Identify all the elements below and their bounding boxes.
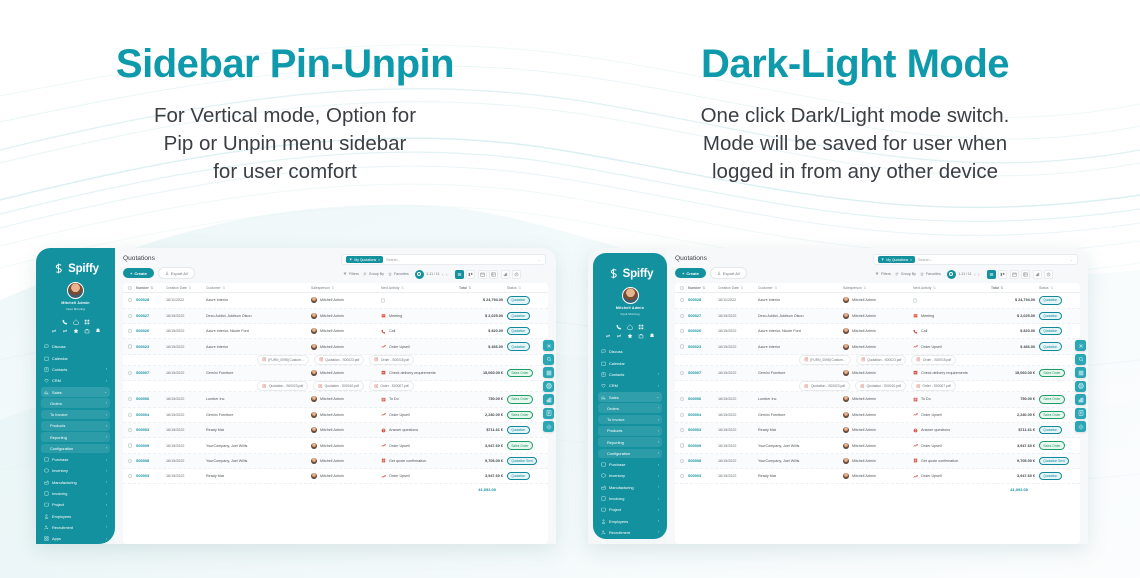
export-all-button[interactable]: Export All	[710, 267, 747, 279]
refresh-icon[interactable]	[415, 270, 424, 279]
attachment-label: Quotation - S00023.pdf	[269, 384, 303, 388]
cell-creation-date: 16/15/2022	[718, 329, 758, 333]
meeting-icon	[381, 313, 386, 318]
quick-icons	[36, 316, 115, 342]
user-name: Mitchell Admin	[616, 306, 644, 310]
attachment-chip[interactable]: Quotation - S00023.pdf	[856, 355, 907, 365]
sort-icon[interactable]: ⇅	[1050, 286, 1053, 290]
row-checkbox[interactable]	[680, 329, 688, 333]
table-row[interactable]: S0002716/15/2022Deco Addict, Addison Ols…	[123, 309, 548, 324]
heading-block-left: Sidebar Pin-Unpin For Vertical mode, Opt…	[0, 0, 570, 232]
sidebar-item-configuration[interactable]: Configuration›	[598, 449, 662, 459]
row-checkbox[interactable]	[680, 474, 688, 478]
apps-grid-icon[interactable]	[1075, 367, 1086, 378]
cell-next-activity: Order Upsell	[381, 474, 459, 479]
search-input[interactable]: Search...	[386, 258, 535, 262]
sidebar-item-products[interactable]: Products›	[41, 421, 110, 431]
sort-icon[interactable]: ⇅	[150, 286, 153, 290]
sidebar-item-manufacturing[interactable]: Manufacturing›	[41, 477, 110, 487]
sidebar-item-invoicing[interactable]: Invoicing›	[598, 494, 662, 504]
sort-icon[interactable]: ⇅	[863, 286, 866, 290]
column-header-total[interactable]: Total⇅	[991, 286, 1035, 290]
group-by-button[interactable]: Group By	[895, 272, 916, 276]
pagination[interactable]: 1-11 / 11 ‹ ›	[415, 270, 448, 279]
row-checkbox[interactable]	[680, 298, 688, 302]
chevron-right-icon[interactable]: ›	[658, 463, 659, 467]
cell-status: Sales Order	[1035, 395, 1075, 403]
settings-gear-icon[interactable]	[1075, 340, 1086, 351]
search-rail-icon[interactable]	[1075, 354, 1086, 365]
column-header-creation-date[interactable]: Creation Date⇅	[166, 286, 206, 290]
table-row[interactable]: S0000616/15/2022Lumber IncMitchell Admin…	[675, 392, 1080, 407]
row-checkbox[interactable]	[680, 413, 688, 417]
column-header-creation-date[interactable]: Creation Date⇅	[718, 286, 758, 290]
bag-icon[interactable]	[84, 328, 90, 334]
export-all-button[interactable]: Export All	[158, 267, 195, 279]
grid-icon[interactable]	[638, 324, 644, 330]
sidebar-item-to-invoice[interactable]: To Invoice›	[598, 415, 662, 425]
row-checkbox[interactable]	[128, 413, 136, 417]
cell-status: Quotation	[1035, 312, 1075, 320]
column-header-status[interactable]: Status⇅	[503, 286, 543, 290]
cell-number[interactable]: S00023	[136, 345, 166, 349]
chevron-right-icon[interactable]: ›	[106, 503, 107, 507]
chevron-right-icon[interactable]: ›	[658, 497, 659, 501]
chevron-right-icon[interactable]: ›	[106, 458, 107, 462]
note-icon[interactable]	[1075, 408, 1086, 419]
table-row[interactable]: S0000816/15/2022YourCompany, Joel Willis…	[123, 454, 548, 469]
graph-view-icon[interactable]	[1033, 270, 1042, 279]
chevron-right-icon[interactable]: ›	[658, 429, 659, 433]
status-badge: Sales Order	[1039, 395, 1065, 403]
chevron-right-icon[interactable]: ›	[106, 379, 107, 383]
chevron-down-icon[interactable]: ⌄	[656, 395, 659, 399]
table-row[interactable]: S0000916/15/2022YourCompany, Joel Willis…	[675, 438, 1080, 453]
table-row[interactable]: S0000316/15/2022Ready MatMitchell AdminO…	[123, 469, 548, 484]
sidebar-item-to-invoice[interactable]: To Invoice›	[41, 410, 110, 420]
attachment-chip[interactable]: Quotation - S00023.pdf	[314, 355, 365, 365]
sidebar-item-inventory[interactable]: Inventory›	[41, 466, 110, 476]
row-checkbox[interactable]	[680, 371, 688, 375]
user-block[interactable]: Mitchell Admin Input Morning	[593, 287, 667, 321]
create-button[interactable]: + Create	[123, 268, 154, 278]
chevron-right-icon[interactable]: ›	[658, 440, 659, 444]
chevron-right-icon[interactable]: ›	[106, 492, 107, 496]
prev-page-icon[interactable]: ‹	[442, 272, 443, 277]
calendar-view-icon[interactable]	[1010, 270, 1019, 279]
sort-icon[interactable]: ⇅	[222, 286, 225, 290]
attachment-chip[interactable]: Order - S00007.pdf	[911, 381, 956, 391]
sidebar-item-discuss[interactable]: Discuss	[598, 347, 662, 357]
table-body: S0002816/11/2022Azure InteriorMitchell A…	[675, 293, 1080, 484]
cell-salesperson: Mitchell Admin	[311, 473, 381, 479]
sidebar-item-discuss[interactable]: Discuss	[41, 342, 110, 352]
chevron-right-icon[interactable]: ›	[106, 435, 107, 439]
attachment-chip[interactable]: Order - S00015.pdf	[369, 355, 414, 365]
activity-label: Answer questions	[921, 428, 950, 432]
table-row[interactable]: S0002716/15/2022Deco Addict, Addison Ols…	[675, 309, 1080, 324]
sidebar-item-purchase[interactable]: Purchase›	[598, 460, 662, 470]
sidebar-item-label: Inventory	[609, 473, 655, 478]
chart-icon[interactable]	[1075, 394, 1086, 405]
attachment-chip[interactable]: Quotation - S00010.pdf	[855, 381, 906, 391]
sidebar-item-invoicing[interactable]: Invoicing›	[41, 489, 110, 499]
activity-label: Order Upsell	[921, 345, 942, 349]
chart-icon[interactable]	[543, 394, 554, 405]
pagination[interactable]: 1-11 / 11 ‹ ›	[947, 270, 980, 279]
sidebar-item-reporting[interactable]: Reporting›	[598, 437, 662, 447]
file-icon	[318, 384, 323, 389]
chat-icon	[601, 349, 606, 354]
file-icon	[374, 384, 379, 389]
call-icon[interactable]	[62, 319, 68, 325]
column-label: Creation Date	[718, 286, 739, 290]
sidebar-item-orders[interactable]: Orders›	[598, 403, 662, 413]
status-badge: Quotation	[507, 342, 530, 350]
chevron-right-icon[interactable]: ›	[106, 367, 107, 371]
activity-label: Check delivery requirements	[921, 371, 968, 375]
link-icon[interactable]	[605, 333, 611, 339]
link-icon[interactable]	[62, 328, 68, 334]
cell-total: $711.61 €	[459, 428, 503, 432]
attachment-chip[interactable]: [FURN_0096] Custom...	[799, 355, 851, 365]
chevron-right-icon[interactable]: ›	[106, 446, 107, 450]
sort-icon[interactable]: ⇅	[774, 286, 777, 290]
graph-view-icon[interactable]	[501, 270, 510, 279]
column-header-salesperson[interactable]: Salesperson⇅	[843, 286, 913, 290]
chevron-right-icon[interactable]: ›	[658, 530, 659, 534]
chevron-right-icon[interactable]: ›	[658, 406, 659, 410]
create-button[interactable]: + Create	[675, 268, 706, 278]
heading-block-right: Dark-Light Mode One click Dark/Light mod…	[570, 0, 1140, 232]
search-facet-label: My Quotations	[354, 258, 376, 262]
pivot-view-icon[interactable]	[1021, 270, 1030, 279]
table-row[interactable]: S0002816/11/2022Azure InteriorMitchell A…	[123, 293, 548, 308]
attachment-chip[interactable]: Quotation - S00010.pdf	[313, 381, 364, 391]
cell-customer: Azure Interior	[206, 298, 311, 302]
view-toggles	[455, 270, 522, 279]
activity-label: Call	[921, 329, 927, 333]
cell-number[interactable]: S00009	[688, 444, 718, 448]
table-row[interactable]: S0000316/15/2022Ready MatMitchell AdminA…	[675, 423, 1080, 438]
sidebar-item-inventory[interactable]: Inventory›	[598, 471, 662, 481]
star-icon	[920, 272, 924, 276]
cell-number[interactable]: S00006	[688, 397, 718, 401]
search-input[interactable]: Search...	[918, 258, 1067, 262]
link-icon[interactable]	[616, 333, 622, 339]
row-checkbox[interactable]	[128, 428, 136, 432]
chevron-right-icon[interactable]: ›	[658, 485, 659, 489]
cell-customer: Deco Addict, Addison Olson	[206, 314, 311, 318]
table-row[interactable]: S0000916/15/2022YourCompany, Joel Willis…	[123, 438, 548, 453]
column-header-total[interactable]: Total⇅	[459, 286, 503, 290]
cell-creation-date: 16/15/2022	[166, 428, 206, 432]
attachment-chip[interactable]: Quotation - S00023.pdf	[799, 381, 850, 391]
status-badge: Quotation	[1039, 426, 1062, 434]
sidebar-item-employees[interactable]: Employees›	[598, 516, 662, 526]
sort-icon[interactable]: ⇅	[740, 286, 743, 290]
table-row[interactable]: S0002316/15/2022Azure InteriorMitchell A…	[675, 339, 1080, 354]
sidebar-item-sales[interactable]: Sales⌄	[598, 392, 662, 402]
sort-icon[interactable]: ⇅	[518, 286, 521, 290]
note-icon[interactable]	[543, 408, 554, 419]
cell-number[interactable]: S00026	[136, 329, 166, 333]
sort-icon[interactable]: ⇅	[933, 286, 936, 290]
chevron-right-icon[interactable]: ›	[106, 469, 107, 473]
sort-icon[interactable]: ⇅	[702, 286, 705, 290]
cell-number[interactable]: S00004	[136, 413, 166, 417]
chevron-right-icon[interactable]: ›	[106, 537, 107, 541]
row-checkbox[interactable]	[680, 397, 688, 401]
cell-number[interactable]: S00004	[688, 413, 718, 417]
table-row[interactable]: S0000616/15/2022Lumber IncMitchell Admin…	[123, 392, 548, 407]
chevron-right-icon[interactable]: ›	[106, 424, 107, 428]
row-checkbox[interactable]	[680, 344, 688, 348]
column-header-customer[interactable]: Customer⇅	[206, 286, 311, 290]
sidebar-item-configuration[interactable]: Configuration›	[41, 444, 110, 454]
sidebar-item-calendar[interactable]: Calendar	[41, 353, 110, 363]
status-badge: Quotation Sent	[507, 457, 537, 465]
calendar-view-icon[interactable]	[478, 270, 487, 279]
sidebar-item-reporting[interactable]: Reporting›	[41, 432, 110, 442]
favorites-button[interactable]: Favorites	[920, 272, 941, 276]
sidebar-item-crm[interactable]: CRM›	[598, 381, 662, 391]
cell-number[interactable]: S00003	[688, 428, 718, 432]
search-bar[interactable]: My Quotations × Search... ⌄	[873, 254, 1078, 265]
employees-icon	[44, 514, 49, 519]
cell-salesperson: Mitchell Admin	[311, 328, 381, 334]
filters-button[interactable]: Filters	[343, 272, 359, 276]
chevron-right-icon[interactable]: ›	[106, 514, 107, 518]
sidebar-item-products[interactable]: Products›	[598, 426, 662, 436]
cell-number[interactable]: S00026	[688, 329, 718, 333]
table-row[interactable]: S0002616/15/2022Azure Interior, Nicole F…	[675, 324, 1080, 339]
cell-number[interactable]: S00008	[136, 459, 166, 463]
cell-number[interactable]: S00023	[688, 345, 718, 349]
sidebar-item-sales[interactable]: Sales⌄	[41, 387, 110, 397]
filters-button[interactable]: Filters	[875, 272, 891, 276]
sort-icon[interactable]: ⇅	[331, 286, 334, 290]
chevron-right-icon[interactable]: ›	[658, 542, 659, 544]
print-icon[interactable]	[543, 381, 554, 392]
refresh-icon[interactable]	[947, 270, 956, 279]
cell-total: 750.00 €	[991, 397, 1035, 401]
row-checkbox[interactable]	[680, 443, 688, 447]
table-row[interactable]: S0000716/15/2022Gemini FurnitureMitchell…	[675, 366, 1080, 381]
column-header-customer[interactable]: Customer⇅	[758, 286, 843, 290]
sort-icon[interactable]: ⇅	[468, 286, 471, 290]
table-row[interactable]: S0000316/15/2022Ready MatMitchell AdminO…	[675, 469, 1080, 484]
apps-grid-icon[interactable]	[543, 367, 554, 378]
row-checkbox[interactable]	[128, 314, 136, 318]
pin-icon[interactable]	[73, 328, 79, 334]
chevron-right-icon[interactable]: ›	[106, 413, 107, 417]
table-row[interactable]: S0000416/15/2022Gemini FurnitureMitchell…	[123, 408, 548, 423]
select-all-checkbox[interactable]	[128, 286, 136, 290]
attachment-chip[interactable]: Order - S00015.pdf	[911, 355, 956, 365]
cell-next-activity	[913, 298, 991, 302]
brand[interactable]: Spiffy	[36, 256, 115, 282]
cell-number[interactable]: S00003	[688, 474, 718, 478]
table-row[interactable]: S0000816/15/2022YourCompany, Joel Willis…	[675, 454, 1080, 469]
sidebar-item-employees[interactable]: Employees›	[41, 511, 110, 521]
column-header-status[interactable]: Status⇅	[1035, 286, 1075, 290]
search-bar[interactable]: My Quotations × Search... ⌄	[341, 254, 546, 265]
cell-total: $ 2,025.00	[991, 314, 1035, 318]
bell-icon[interactable]	[649, 333, 655, 339]
row-checkbox[interactable]	[680, 314, 688, 318]
sidebar-item-label: Sales	[52, 390, 101, 395]
activity-view-icon[interactable]	[512, 270, 521, 279]
home-icon[interactable]	[73, 319, 79, 325]
kanban-view-icon[interactable]	[466, 270, 475, 279]
column-header-number[interactable]: Number⇅	[688, 286, 718, 290]
search-facet-my-quotations[interactable]: My Quotations ×	[878, 256, 915, 263]
activity-label: Order Upsell	[921, 474, 942, 478]
pivot-view-icon[interactable]	[489, 270, 498, 279]
chevron-right-icon[interactable]: ›	[658, 474, 659, 478]
bell-icon[interactable]	[95, 328, 101, 334]
pin-icon[interactable]	[627, 333, 633, 339]
chevron-right-icon[interactable]: ›	[658, 372, 659, 376]
next-page-icon[interactable]: ›	[446, 272, 447, 277]
cell-number[interactable]: S00008	[688, 459, 718, 463]
grand-total: 41,092.00	[1010, 487, 1028, 492]
cell-salesperson: Mitchell Admin	[311, 313, 381, 319]
cell-status: Sales Order	[1035, 411, 1075, 419]
chevron-down-icon[interactable]: ⌄	[1070, 258, 1073, 262]
close-icon[interactable]: ×	[910, 258, 912, 262]
chevron-down-icon[interactable]: ⌄	[104, 390, 107, 394]
column-header-next-activity[interactable]: Next Activity⇅	[381, 286, 459, 290]
sidebar-item-project[interactable]: Project›	[598, 505, 662, 515]
sort-icon[interactable]: ⇅	[401, 286, 404, 290]
column-header-next-activity[interactable]: Next Activity⇅	[913, 286, 991, 290]
cell-number[interactable]: S00028	[136, 298, 166, 302]
chevron-right-icon[interactable]: ›	[658, 519, 659, 523]
grid-icon[interactable]	[84, 319, 90, 325]
row-checkbox[interactable]	[128, 443, 136, 447]
cell-number[interactable]: S00027	[136, 314, 166, 318]
group-by-button[interactable]: Group By	[363, 272, 384, 276]
sidebar-item-manufacturing[interactable]: Manufacturing›	[598, 482, 662, 492]
sidebar-item-apps[interactable]: Apps›	[41, 534, 110, 544]
list-view-icon[interactable]	[987, 270, 996, 279]
table-row[interactable]: S0002616/15/2022Azure Interior, Nicole F…	[123, 324, 548, 339]
chevron-right-icon[interactable]: ›	[658, 508, 659, 512]
row-checkbox[interactable]	[128, 474, 136, 478]
sidebar-item-apps[interactable]: Apps›	[598, 539, 662, 544]
sidebar-item-recruitment[interactable]: Recruitment›	[598, 528, 662, 538]
theme-toggle-icon[interactable]	[1075, 421, 1086, 432]
cell-number[interactable]: S00007	[136, 371, 166, 375]
column-header-number[interactable]: Number⇅	[136, 286, 166, 290]
row-checkbox[interactable]	[680, 459, 688, 463]
row-checkbox[interactable]	[680, 428, 688, 432]
table-row[interactable]: S0000416/15/2022Gemini FurnitureMitchell…	[675, 408, 1080, 423]
chevron-right-icon[interactable]: ›	[658, 451, 659, 455]
sidebar-item-recruitment[interactable]: Recruitment›	[41, 523, 110, 533]
print-icon[interactable]	[1075, 381, 1086, 392]
search-rail-icon[interactable]	[543, 354, 554, 365]
chevron-right-icon[interactable]: ›	[106, 525, 107, 529]
user-block[interactable]: Mitchell Admin Input Morning	[36, 282, 115, 316]
sidebar-item-orders[interactable]: Orders›	[41, 398, 110, 408]
table-row[interactable]: S0002816/11/2022Azure InteriorMitchell A…	[675, 293, 1080, 308]
table-row[interactable]: S0000316/15/2022Ready MatMitchell AdminA…	[123, 423, 548, 438]
chevron-right-icon[interactable]: ›	[106, 480, 107, 484]
sort-icon[interactable]: ⇅	[188, 286, 191, 290]
cell-number[interactable]: S00007	[688, 371, 718, 375]
contacts-icon	[44, 367, 49, 372]
next-page-icon[interactable]: ›	[978, 272, 979, 277]
link-icon[interactable]	[51, 328, 57, 334]
row-checkbox[interactable]	[128, 344, 136, 348]
chevron-right-icon[interactable]: ›	[658, 384, 659, 388]
settings-gear-icon[interactable]	[543, 340, 554, 351]
cell-number[interactable]: S00028	[688, 298, 718, 302]
list-view-icon[interactable]	[455, 270, 464, 279]
activity-view-icon[interactable]	[1044, 270, 1053, 279]
kanban-view-icon[interactable]	[998, 270, 1007, 279]
home-icon[interactable]	[627, 324, 633, 330]
chevron-right-icon[interactable]: ›	[658, 418, 659, 422]
table-row[interactable]: S0002316/15/2022Azure InteriorMitchell A…	[123, 339, 548, 354]
prev-page-icon[interactable]: ‹	[974, 272, 975, 277]
column-header-salesperson[interactable]: Salesperson⇅	[311, 286, 381, 290]
attachment-chip[interactable]: Quotation - S00023.pdf	[257, 381, 308, 391]
sidebar-item-project[interactable]: Project›	[41, 500, 110, 510]
quick-icons	[593, 321, 667, 347]
sidebar-item-calendar[interactable]: Calendar	[598, 358, 662, 368]
row-checkbox[interactable]	[128, 397, 136, 401]
row-checkbox[interactable]	[128, 371, 136, 375]
sidebar-item-purchase[interactable]: Purchase›	[41, 455, 110, 465]
cell-number[interactable]: S00027	[688, 314, 718, 318]
select-all-checkbox[interactable]	[680, 286, 688, 290]
cell-number[interactable]: S00003	[136, 474, 166, 478]
cell-number[interactable]: S00009	[136, 444, 166, 448]
group-icon	[363, 272, 367, 276]
search-facet-my-quotations[interactable]: My Quotations ×	[346, 256, 383, 263]
sidebar-item-contacts[interactable]: Contacts›	[598, 370, 662, 380]
sidebar-item-crm[interactable]: CRM›	[41, 376, 110, 386]
chevron-down-icon[interactable]: ⌄	[538, 258, 541, 262]
pager-count: 1-11 / 11	[958, 272, 971, 276]
close-icon[interactable]: ×	[378, 258, 380, 262]
sort-icon[interactable]: ⇅	[1000, 286, 1003, 290]
row-checkbox[interactable]	[128, 329, 136, 333]
bag-icon[interactable]	[638, 333, 644, 339]
row-checkbox[interactable]	[128, 298, 136, 302]
table-row[interactable]: S0000716/15/2022Gemini FurnitureMitchell…	[123, 366, 548, 381]
sidebar-item-contacts[interactable]: Contacts›	[41, 365, 110, 375]
theme-toggle-icon[interactable]	[543, 421, 554, 432]
cell-salesperson: Mitchell Admin	[311, 370, 381, 376]
cell-total: 2,240.00 €	[459, 413, 503, 417]
salesperson-label: Mitchell Admin	[852, 459, 876, 463]
row-checkbox[interactable]	[128, 459, 136, 463]
brand[interactable]: Spiffy	[593, 261, 667, 287]
cell-number[interactable]: S00003	[136, 428, 166, 432]
attachment-chip[interactable]: [FURN_0096] Custom...	[257, 355, 309, 365]
cell-number[interactable]: S00006	[136, 397, 166, 401]
avatar	[843, 412, 849, 418]
chevron-right-icon[interactable]: ›	[106, 401, 107, 405]
favorites-button[interactable]: Favorites	[388, 272, 409, 276]
attachment-chip[interactable]: Order - S00007.pdf	[369, 381, 414, 391]
call-icon[interactable]	[616, 324, 622, 330]
